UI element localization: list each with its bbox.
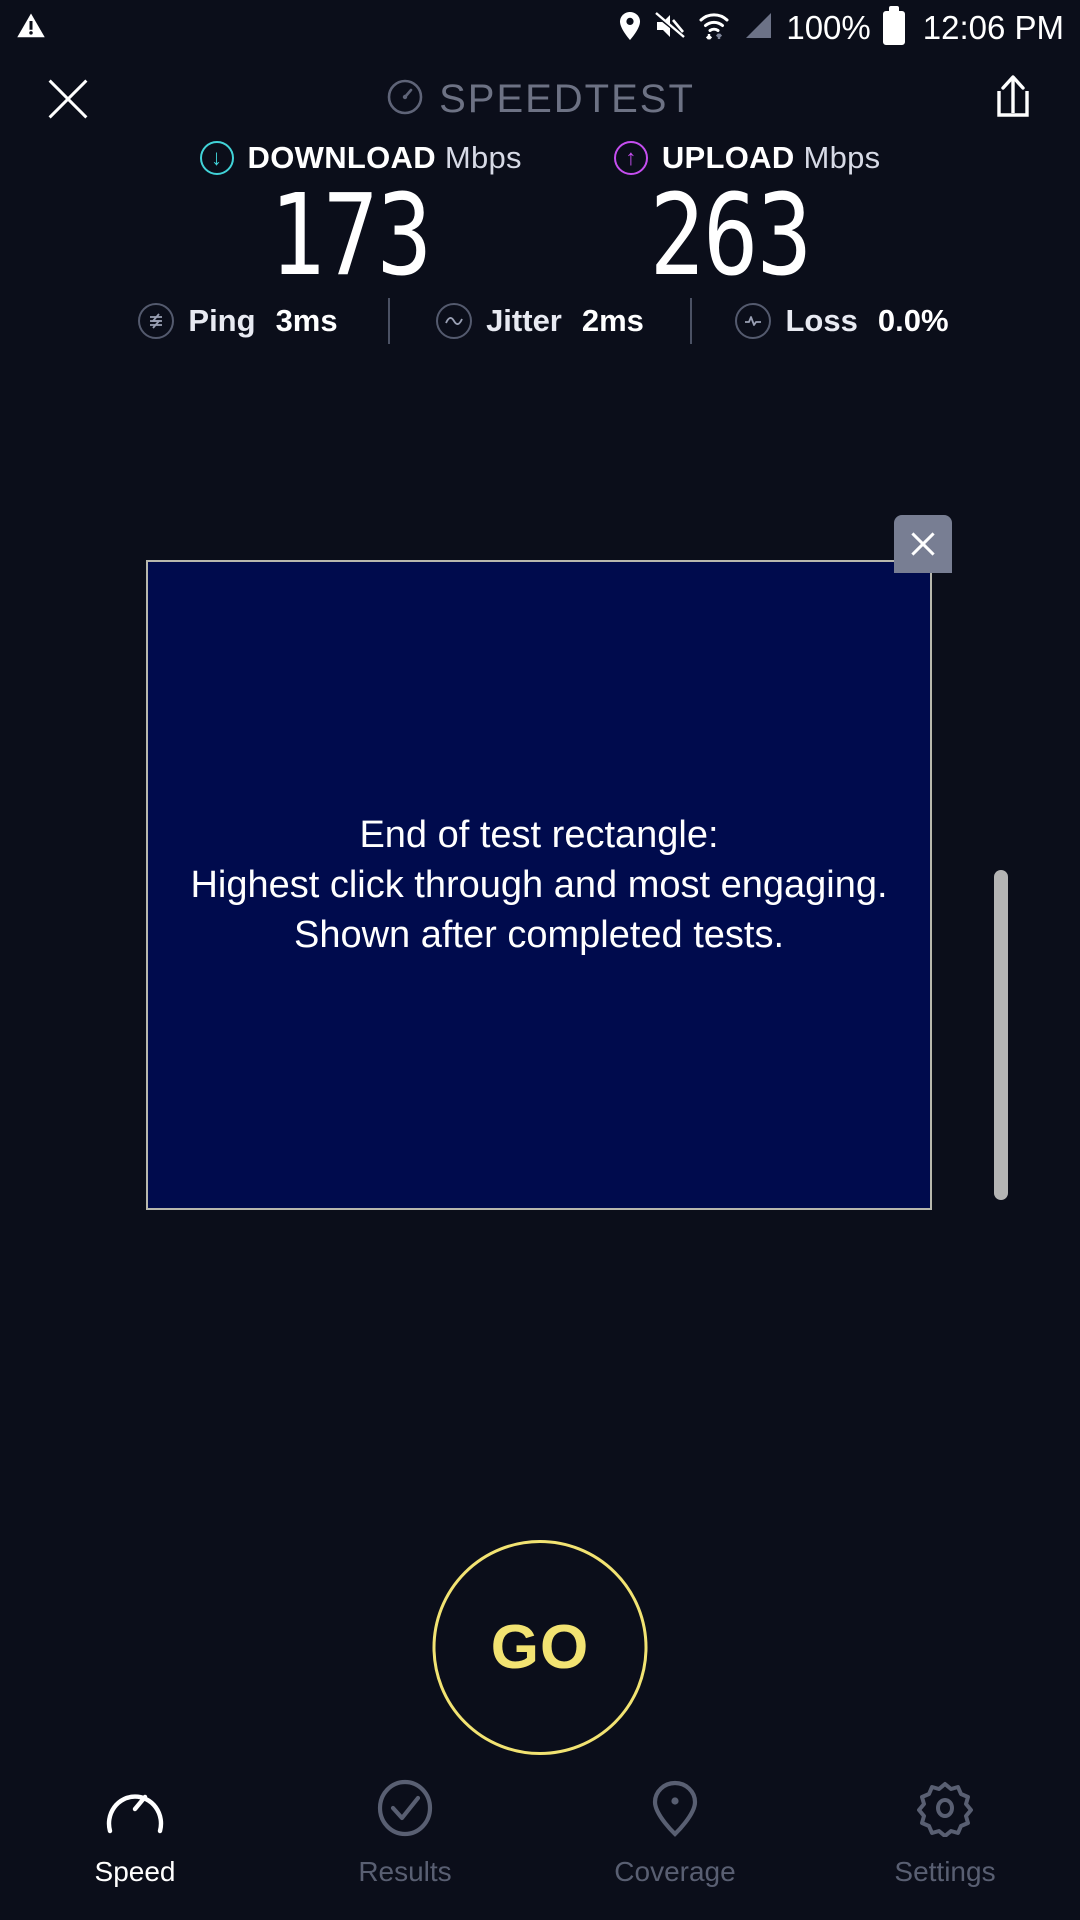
ping-label: Ping (188, 303, 255, 339)
nav-label-speed: Speed (95, 1856, 176, 1888)
warning-triangle-icon (16, 11, 46, 46)
wifi-icon (698, 10, 730, 47)
brand-title: SPEEDTEST (439, 77, 695, 122)
close-icon (908, 529, 938, 559)
speedtest-app-screen: 100% 12:06 PM SPEEDTEST ↓ DOWNLOAD Mbps … (0, 0, 1080, 1920)
cell-signal-icon (742, 11, 774, 46)
ad-line-3: Shown after completed tests. (190, 910, 887, 960)
battery-percent-label: 100% (786, 9, 870, 47)
loss-label: Loss (785, 303, 857, 339)
metric-label-row: ↓ DOWNLOAD Mbps ↑ UPLOAD Mbps (0, 140, 1080, 176)
nav-item-settings[interactable]: Settings (810, 1779, 1080, 1888)
jitter-value: 2ms (582, 303, 644, 339)
upload-arrow-icon: ↑ (614, 141, 648, 175)
location-pin-icon (644, 1779, 706, 1842)
jitter-icon (436, 303, 472, 339)
download-arrow-icon: ↓ (200, 141, 234, 175)
go-button-label: GO (491, 1612, 589, 1683)
loss-metric: Loss 0.0% (692, 303, 992, 339)
ad-line-1: End of test rectangle: (190, 810, 887, 860)
advertisement-banner[interactable]: End of test rectangle: Highest click thr… (146, 560, 932, 1210)
upload-unit: Mbps (803, 140, 880, 175)
ad-text: End of test rectangle: Highest click thr… (190, 810, 887, 960)
loss-icon (735, 303, 771, 339)
status-bar-clock: 12:06 PM (923, 9, 1064, 47)
speedometer-icon (104, 1779, 166, 1842)
loss-value: 0.0% (878, 303, 949, 339)
jitter-metric: Jitter 2ms (390, 303, 690, 339)
go-button[interactable]: GO (433, 1540, 648, 1755)
download-unit: Mbps (445, 140, 522, 175)
close-icon[interactable] (42, 73, 94, 125)
ping-value: 3ms (276, 303, 338, 339)
jitter-label: Jitter (486, 303, 562, 339)
ping-icon (138, 303, 174, 339)
location-pin-icon (618, 11, 642, 46)
status-bar-left (16, 11, 46, 46)
ping-metric: Ping 3ms (88, 303, 388, 339)
ad-line-2: Highest click through and most engaging. (190, 860, 887, 910)
nav-label-settings: Settings (894, 1856, 995, 1888)
app-header: SPEEDTEST (0, 56, 1080, 142)
upload-value: 263 (574, 178, 886, 296)
download-label: DOWNLOAD (248, 140, 436, 175)
speedometer-icon (385, 77, 425, 122)
ping-jitter-loss-row: Ping 3ms Jitter 2ms Loss 0.0% (0, 298, 1080, 344)
share-icon[interactable] (988, 71, 1038, 127)
battery-full-icon (883, 11, 905, 45)
metric-value-row: 173 263 (0, 178, 1080, 296)
status-bar: 100% 12:06 PM (0, 0, 1080, 56)
nav-item-speed[interactable]: Speed (0, 1779, 270, 1888)
nav-label-coverage: Coverage (614, 1856, 735, 1888)
nav-item-results[interactable]: Results (270, 1779, 540, 1888)
nav-label-results: Results (358, 1856, 451, 1888)
scrollbar-thumb[interactable] (994, 870, 1008, 1200)
ad-close-button[interactable] (894, 515, 952, 573)
upload-label: UPLOAD (662, 140, 795, 175)
status-bar-right: 100% 12:06 PM (618, 9, 1064, 47)
nav-item-coverage[interactable]: Coverage (540, 1779, 810, 1888)
speed-results: ↓ DOWNLOAD Mbps ↑ UPLOAD Mbps 173 263 (0, 140, 1080, 296)
bottom-navigation-bar: Speed Results Coverage Set (0, 1760, 1080, 1920)
check-circle-icon (374, 1779, 436, 1842)
volume-mute-icon (654, 11, 686, 46)
gear-icon (914, 1779, 976, 1842)
brand: SPEEDTEST (0, 56, 1080, 142)
download-value: 173 (194, 178, 506, 296)
advertisement-container: End of test rectangle: Highest click thr… (146, 560, 932, 1210)
